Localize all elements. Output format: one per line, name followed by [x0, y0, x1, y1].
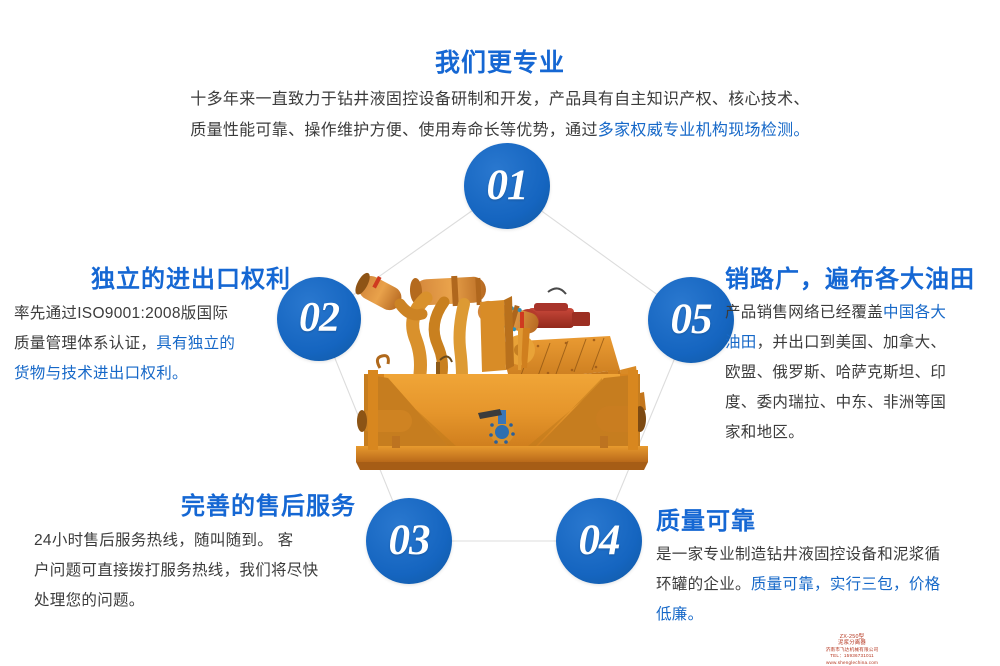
feature-block-04: 质量可靠 是一家专业制造钻井液固控设备和泥浆循环罐的企业。质量可靠，实行三包，价… — [656, 507, 988, 630]
machine-decal: ZX-250型 泥浆分离器 济南市飞达机械有限公司 TEL：1593673101… — [782, 634, 922, 666]
feature-02-body: 率先通过ISO9001:2008版国际质量管理体系认证，具有独立的货物与技术进出… — [14, 299, 291, 389]
feature-block-05: 销路广，遍布各大油田 产品销售网络已经覆盖中国各大油田，并出口到美国、加拿大、欧… — [725, 265, 991, 448]
step-badge-05-label: 05 — [671, 295, 712, 344]
text-line: 十多年来一直致力于钻井液固控设备研制和开发，产品具有自主知识产权、核心技术、 — [150, 84, 850, 115]
highlight-text: 质量可靠，实行三包，价格 — [751, 576, 941, 593]
feature-05-body: 产品销售网络已经覆盖中国各大油田，并出口到美国、加拿大、欧盟、俄罗斯、哈萨克斯坦… — [725, 298, 991, 448]
body-text: 户问题可直接拨打服务热线，我们将尽快 — [34, 562, 318, 579]
body-text: 度、委内瑞拉、中东、非洲等国 — [725, 394, 946, 411]
feature-04-body: 是一家专业制造钻井液固控设备和泥浆循环罐的企业。质量可靠，实行三包，价格低廉。 — [656, 540, 988, 630]
text-line: 是一家专业制造钻井液固控设备和泥浆循 — [656, 540, 988, 570]
feature-01-heading: 我们更专业 — [150, 48, 850, 78]
text-line: 货物与技术进出口权利。 — [14, 359, 291, 389]
text-line: 产品销售网络已经覆盖中国各大 — [725, 298, 991, 328]
step-badge-05[interactable]: 05 — [648, 277, 734, 363]
feature-03-body: 24小时售后服务热线，随叫随到。 客户问题可直接拨打服务热线，我们将尽快处理您的… — [8, 526, 356, 616]
step-badge-01[interactable]: 01 — [464, 143, 550, 229]
body-text: ，并出口到美国、加拿大、 — [757, 334, 947, 351]
text-line: 环罐的企业。质量可靠，实行三包，价格 — [656, 570, 988, 600]
step-badge-01-label: 01 — [487, 161, 528, 210]
product-photo: ZX-250型 泥浆分离器 济南市飞达机械有限公司 TEL：1593673101… — [352, 250, 652, 478]
text-line: 24小时售后服务热线，随叫随到。 客 — [8, 526, 356, 556]
feature-02-heading: 独立的进出口权利 — [14, 265, 291, 295]
cyclone-pipe-assembly — [353, 269, 542, 380]
body-text: 欧盟、俄罗斯、哈萨克斯坦、印 — [725, 364, 946, 381]
body-text: 24小时售后服务热线，随叫随到。 客 — [34, 532, 293, 549]
text-line: 低廉。 — [656, 600, 988, 630]
feature-block-02: 独立的进出口权利 率先通过ISO9001:2008版国际质量管理体系认证，具有独… — [14, 265, 291, 389]
highlight-text: 中国各大 — [883, 304, 946, 321]
feature-03-heading: 完善的售后服务 — [8, 492, 356, 522]
text-line: 户问题可直接拨打服务热线，我们将尽快 — [8, 556, 356, 586]
feature-block-01: 我们更专业 十多年来一直致力于钻井液固控设备研制和开发，产品具有自主知识产权、核… — [150, 48, 850, 146]
feature-05-heading: 销路广，遍布各大油田 — [725, 265, 991, 295]
body-text: 率先通过ISO9001:2008版国际 — [14, 305, 228, 322]
advantages-infographic: ZX-250型 泥浆分离器 济南市飞达机械有限公司 TEL：1593673101… — [0, 0, 1000, 642]
body-text: 环罐的企业。 — [656, 576, 751, 593]
text-line: 质量性能可靠、操作维护方便、使用寿命长等优势，通过多家权威专业机构现场检测。 — [150, 115, 850, 146]
decal-site: www.shenglechina.com — [782, 660, 922, 666]
feature-01-body: 十多年来一直致力于钻井液固控设备研制和开发，产品具有自主知识产权、核心技术、质量… — [150, 84, 850, 146]
step-badge-03[interactable]: 03 — [366, 498, 452, 584]
text-line: 质量管理体系认证，具有独立的 — [14, 329, 291, 359]
text-line: 油田，并出口到美国、加拿大、 — [725, 328, 991, 358]
body-text: 家和地区。 — [725, 424, 804, 441]
body-text: 处理您的问题。 — [34, 592, 145, 609]
text-line: 处理您的问题。 — [8, 586, 356, 616]
highlight-text: 油田 — [725, 334, 757, 351]
body-text: 是一家专业制造钻井液固控设备和泥浆循 — [656, 546, 940, 563]
step-badge-04[interactable]: 04 — [556, 498, 642, 584]
feature-block-03: 完善的售后服务 24小时售后服务热线，随叫随到。 客户问题可直接拨打服务热线，我… — [8, 492, 356, 616]
highlight-text: 多家权威专业机构现场检测。 — [598, 122, 810, 139]
body-text: 十多年来一直致力于钻井液固控设备研制和开发，产品具有自主知识产权、核心技术、 — [190, 91, 809, 108]
step-badge-03-label: 03 — [389, 516, 430, 565]
text-line: 欧盟、俄罗斯、哈萨克斯坦、印 — [725, 358, 991, 388]
step-badge-02-label: 02 — [299, 294, 339, 342]
step-badge-04-label: 04 — [579, 516, 620, 565]
body-text: 产品销售网络已经覆盖 — [725, 304, 883, 321]
highlight-text: 低廉。 — [656, 606, 703, 623]
text-line: 率先通过ISO9001:2008版国际 — [14, 299, 291, 329]
highlight-text: 具有独立的 — [156, 335, 235, 352]
body-text: 质量性能可靠、操作维护方便、使用寿命长等优势，通过 — [190, 122, 598, 139]
highlight-text: 货物与技术进出口权利。 — [14, 365, 188, 382]
text-line: 度、委内瑞拉、中东、非洲等国 — [725, 388, 991, 418]
feature-04-heading: 质量可靠 — [656, 507, 988, 537]
body-text: 质量管理体系认证， — [14, 335, 156, 352]
text-line: 家和地区。 — [725, 418, 991, 448]
